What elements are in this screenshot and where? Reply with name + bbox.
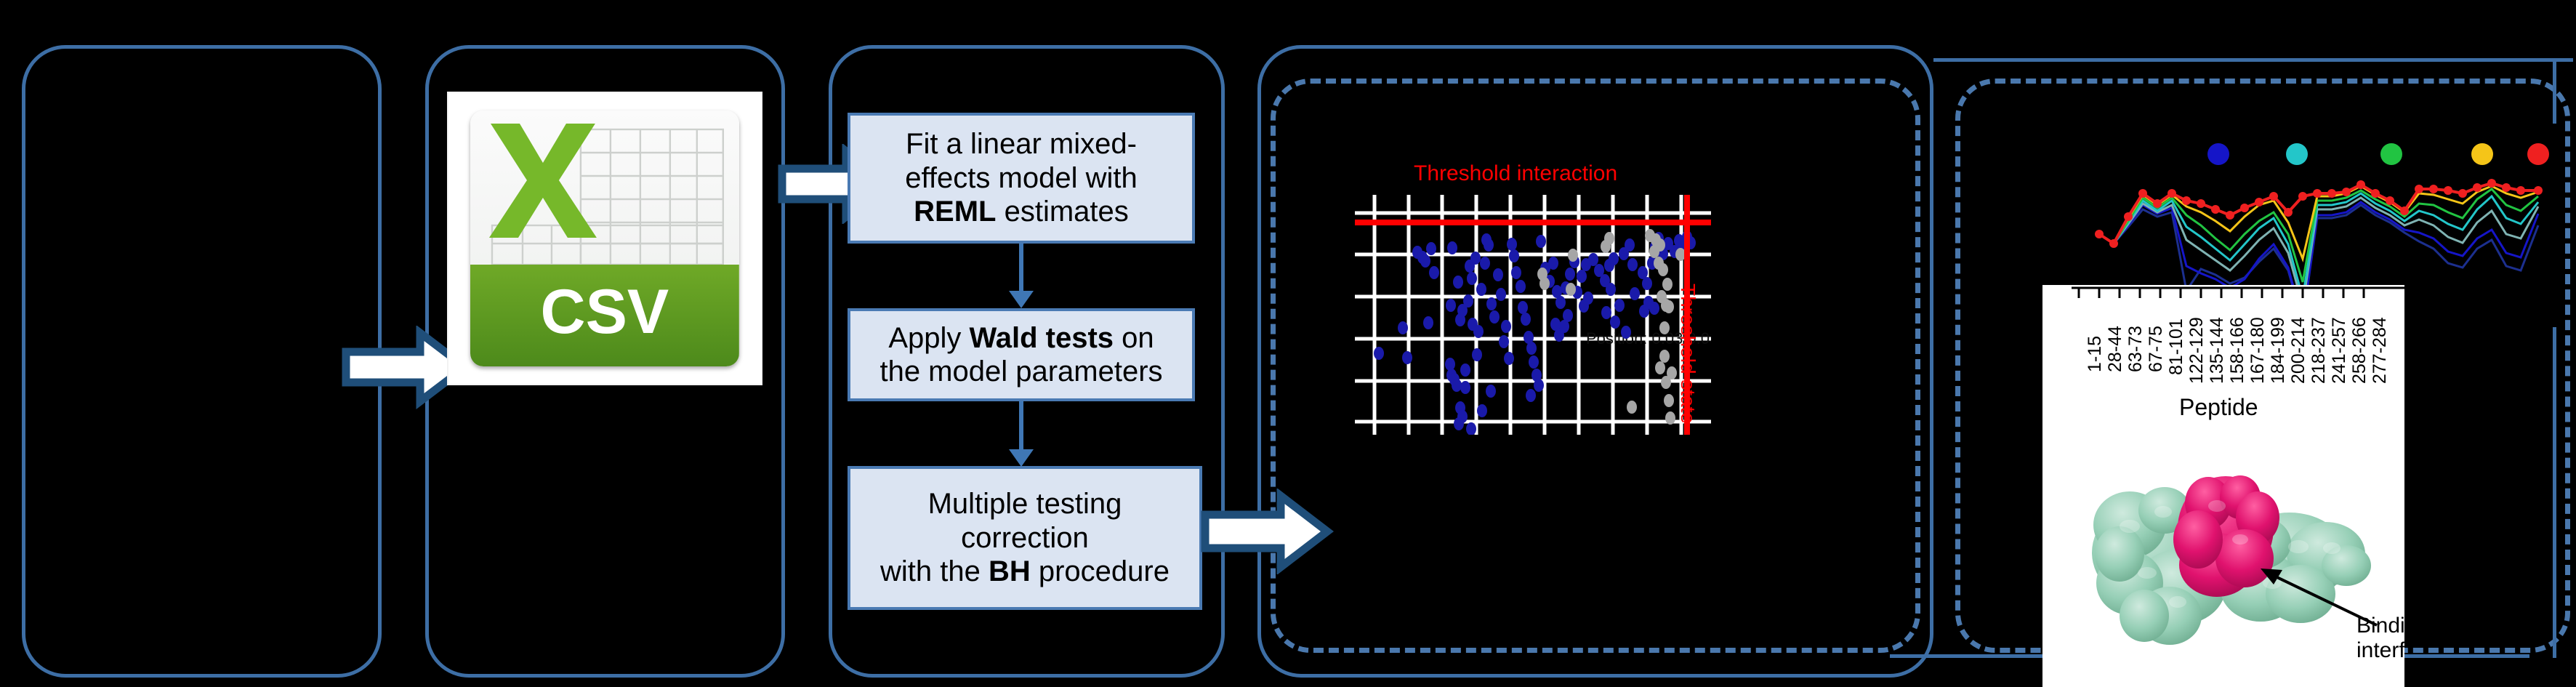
peptide-plot-ytick: 0.01 <box>1996 272 2038 297</box>
wald-keyword: Wald tests <box>970 322 1114 354</box>
protein-structure-image <box>2042 430 2404 670</box>
peptide-axis <box>2042 285 2404 314</box>
legend-dot-5 <box>2527 143 2549 165</box>
peptide-tick-11: 218-237 <box>2309 317 2330 384</box>
input-stage-panel <box>22 45 382 678</box>
peptide-tick-9: 184-199 <box>2268 317 2289 384</box>
csv-icon-body: CSV <box>470 111 739 366</box>
peptide-tick-6: 135-144 <box>2207 317 2228 384</box>
legend-dot-3 <box>2380 143 2402 165</box>
binding-interface-annotation: Binding interface <box>2356 614 2404 662</box>
outer-frame-top-rail <box>1933 58 2573 62</box>
bh-line3-pre: with the <box>880 555 989 587</box>
peptide-axis-title: Peptide <box>2179 394 2258 421</box>
reml-keyword: REML <box>914 196 996 228</box>
peptide-tick-8: 167-180 <box>2247 317 2269 384</box>
bh-line2: correction <box>961 522 1089 554</box>
peptide-tick-7: 158-166 <box>2227 317 2248 384</box>
scatter-svg: Position: 0.03 0.03 <box>1355 195 1711 435</box>
volcano-scatter-plot: Threshold interaction <box>1345 145 1926 553</box>
process-box-reml[interactable]: Fit a linear mixed- effects model with R… <box>848 113 1195 244</box>
wald-line1-post: on <box>1114 322 1154 354</box>
binding-line1: Binding <box>2356 614 2404 638</box>
peptide-tick-0: 1-15 <box>2085 336 2106 372</box>
reml-line1: Fit a linear mixed- <box>906 128 1137 160</box>
threshold-state-label: Threshold state <box>1676 284 1699 424</box>
legend-dot-1 <box>2207 143 2229 165</box>
legend-dot-4 <box>2471 143 2493 165</box>
structure-figure-panel: 1-15 28-44 63-73 67-75 81-101 122-129 13… <box>2042 285 2404 687</box>
peptide-tick-10: 200-214 <box>2288 317 2309 384</box>
peptide-tick-14: 277-284 <box>2370 317 2391 384</box>
peptide-tick-4: 81-101 <box>2166 318 2187 375</box>
csv-grid-icon: CSV <box>470 111 739 366</box>
legend-dot-2 <box>2286 143 2308 165</box>
connector-arrowhead-1 <box>1009 291 1034 308</box>
connector-reml-to-wald <box>1019 244 1023 296</box>
peptide-tick-1: 28-44 <box>2105 326 2126 372</box>
connector-arrowhead-2 <box>1009 449 1034 467</box>
reml-line2: effects model with <box>905 162 1137 194</box>
peptide-tick-3: 67-75 <box>2146 326 2167 372</box>
binding-line2: interface <box>2356 638 2404 662</box>
arrow-model-to-results <box>1199 489 1334 574</box>
csv-file-icon: CSV <box>448 93 761 384</box>
peptide-tick-2: 63-73 <box>2125 326 2146 372</box>
scatter-plot-area: Position: 0.03 0.03 <box>1355 195 1711 435</box>
peptide-tick-5: 122-129 <box>2186 317 2207 384</box>
wald-line2: the model parameters <box>880 355 1162 387</box>
process-box-bh[interactable]: Multiple testing correction with the BH … <box>848 466 1202 610</box>
process-box-wald[interactable]: Apply Wald tests on the model parameters <box>848 308 1195 401</box>
peptide-tick-13: 258-266 <box>2349 317 2370 384</box>
bh-line3-post: procedure <box>1031 555 1170 587</box>
bh-line1: Multiple testing <box>928 488 1122 520</box>
peptide-tick-12: 241-257 <box>2329 317 2350 384</box>
wald-line1-pre: Apply <box>888 322 969 354</box>
csv-label: CSV <box>541 277 669 347</box>
threshold-interaction-label: Threshold interaction <box>1414 161 1617 186</box>
reml-line3-rest: estimates <box>997 196 1129 228</box>
bh-keyword: BH <box>989 555 1031 587</box>
diagram-canvas: CSV Fit a linear mixed- effects model wi… <box>0 0 2576 687</box>
connector-wald-to-bh <box>1019 401 1023 454</box>
